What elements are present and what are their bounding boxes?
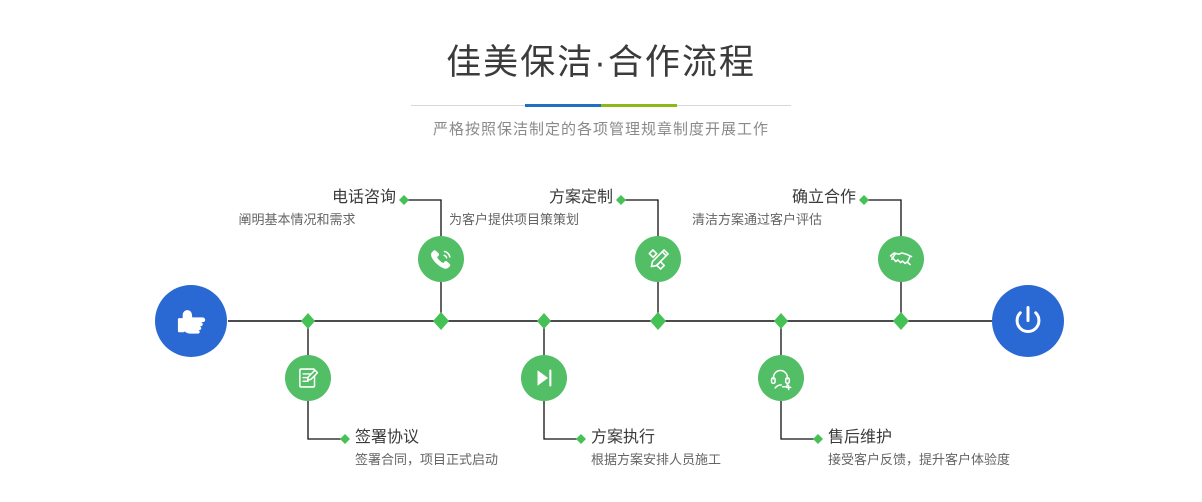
step-desc: 根据方案安排人员施工 xyxy=(591,451,721,469)
step-node-plan-execute[interactable] xyxy=(521,355,567,401)
step-node-phone-consult[interactable] xyxy=(418,236,464,282)
step-label-bottom-1: 签署协议 签署合同，项目正式启动 xyxy=(355,428,498,469)
phone-call-icon xyxy=(428,246,455,273)
step-desc: 接受客户反馈，提升客户体验度 xyxy=(828,451,1010,469)
flow-connectors xyxy=(0,0,1202,502)
label-diamond-markers xyxy=(340,195,869,444)
step-title: 签署协议 xyxy=(355,428,498,448)
step-label-top-3: 确立合作 清洁方案通过客户评估 xyxy=(658,188,856,229)
leader-bottom-1 xyxy=(308,401,345,439)
flow-end-endpoint[interactable] xyxy=(992,285,1064,357)
step-node-plan-custom[interactable] xyxy=(635,236,681,282)
step-label-top-2: 方案定制 为客户提供项目策策划 xyxy=(415,188,613,229)
step-title: 售后维护 xyxy=(828,428,1010,448)
document-sign-icon xyxy=(295,365,321,391)
step-desc: 清洁方案通过客户评估 xyxy=(658,211,856,229)
leader-bottom-3 xyxy=(781,401,818,439)
play-execute-icon xyxy=(531,365,557,391)
leader-top-2 xyxy=(621,200,658,236)
step-title: 方案定制 xyxy=(415,188,613,208)
step-title: 方案执行 xyxy=(591,428,721,448)
step-title: 确立合作 xyxy=(658,188,856,208)
step-label-bottom-3: 售后维护 接受客户反馈，提升客户体验度 xyxy=(828,428,1010,469)
process-flow-diagram: 电话咨询 阐明基本情况和需求 方案定制 为客户提供项目策策划 确立合作 清洁方案… xyxy=(0,0,1202,502)
power-icon xyxy=(1007,300,1049,342)
step-desc: 签署合同，项目正式启动 xyxy=(355,451,498,469)
step-label-top-1: 电话咨询 阐明基本情况和需求 xyxy=(198,188,396,229)
step-desc: 阐明基本情况和需求 xyxy=(198,211,396,229)
headset-support-icon xyxy=(768,365,795,392)
pencil-ruler-icon xyxy=(645,246,672,273)
pointing-hand-icon xyxy=(171,301,211,341)
step-node-sign-agreement[interactable] xyxy=(285,355,331,401)
leader-top-3 xyxy=(864,200,901,236)
step-label-bottom-2: 方案执行 根据方案安排人员施工 xyxy=(591,428,721,469)
step-node-after-sales[interactable] xyxy=(758,355,804,401)
step-node-establish-coop[interactable] xyxy=(878,236,924,282)
handshake-icon xyxy=(887,245,915,273)
flow-start-endpoint[interactable] xyxy=(155,285,227,357)
step-desc: 为客户提供项目策策划 xyxy=(415,211,613,229)
leader-bottom-2 xyxy=(544,401,581,439)
step-title: 电话咨询 xyxy=(198,188,396,208)
